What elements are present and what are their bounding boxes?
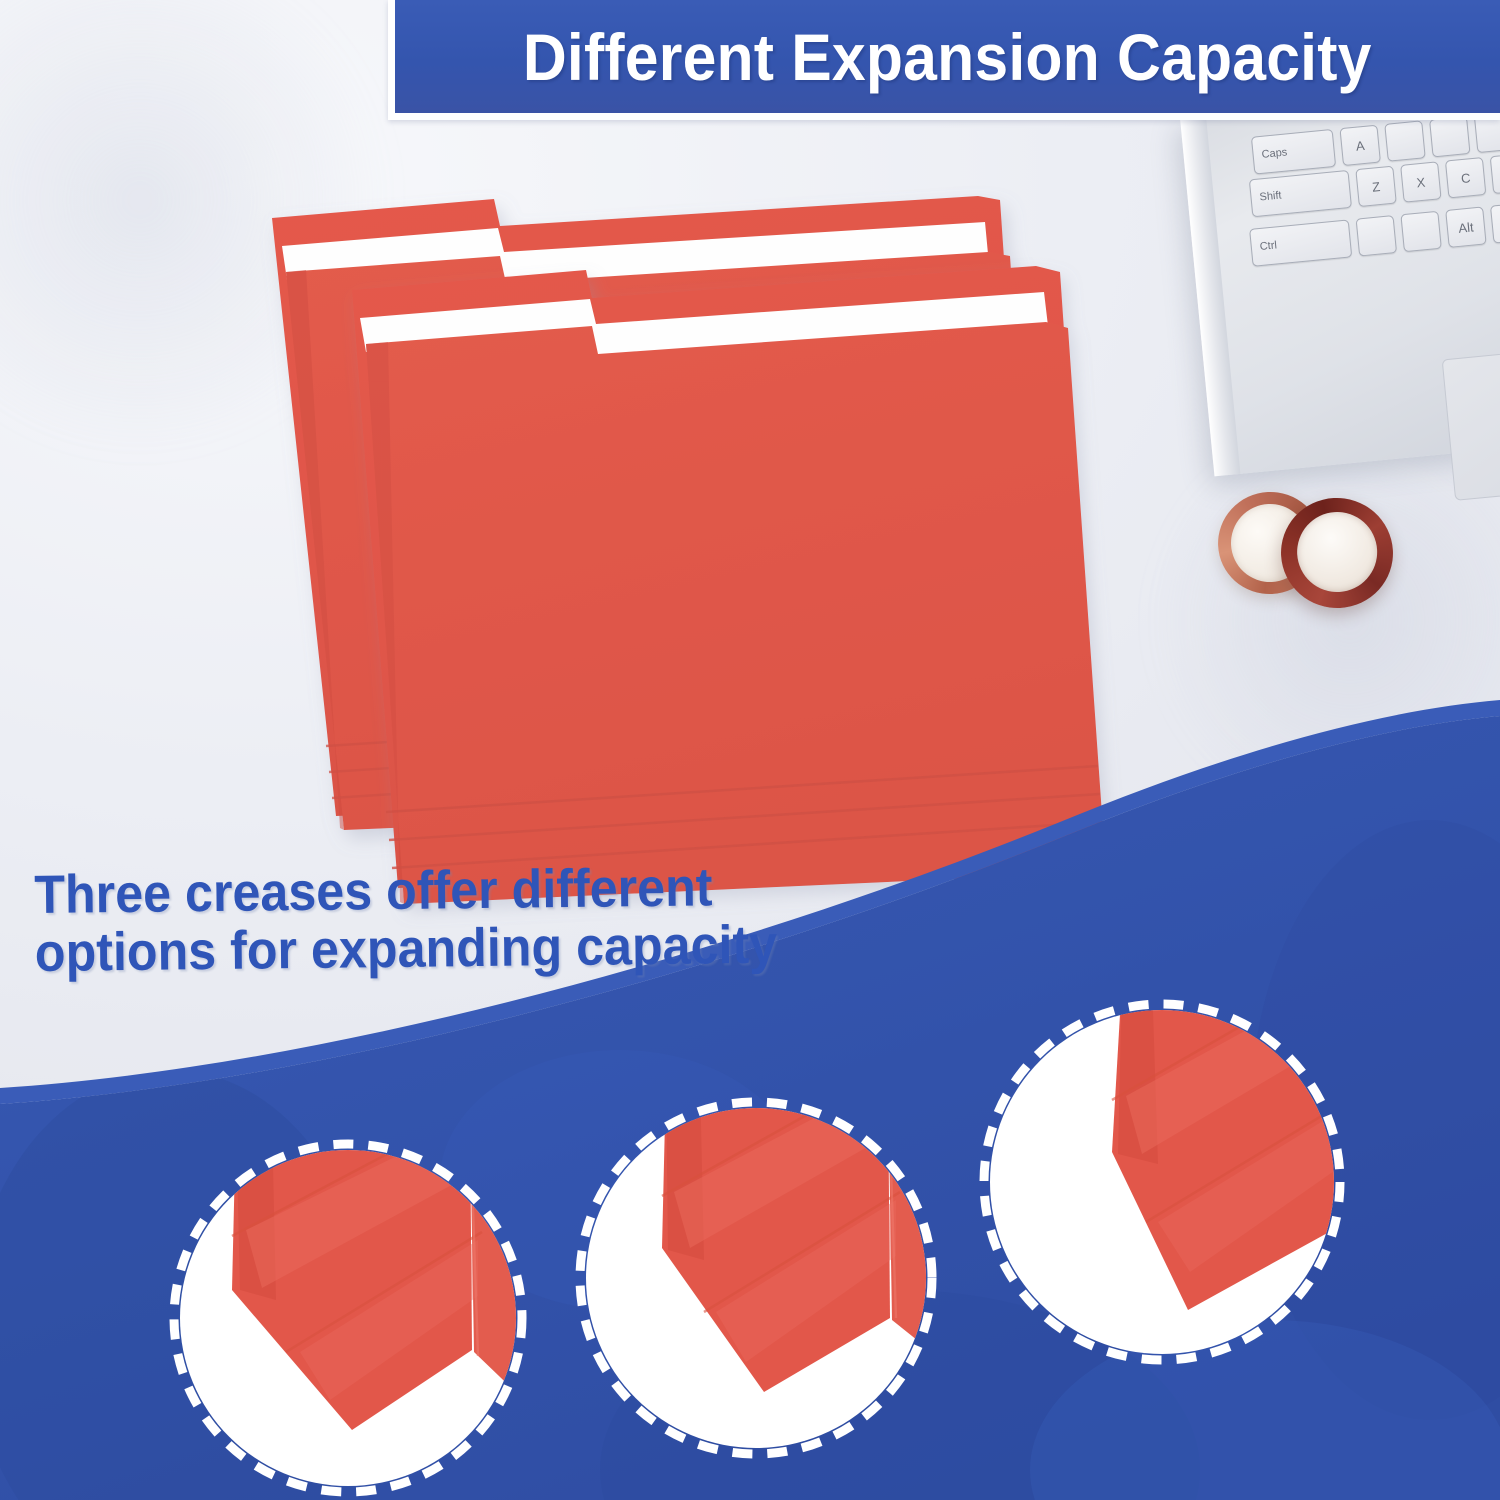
banner-title: Different Expansion Capacity [523, 19, 1372, 95]
blue-section-band [0, 0, 1500, 1500]
caption-line-2: options for expanding capacity [35, 915, 873, 983]
caption-line-1: Three creases offer different [34, 857, 872, 925]
caption-text: Three creases offer different options fo… [34, 857, 872, 983]
header-banner: Different Expansion Capacity [388, 0, 1500, 120]
product-infographic: Caps A Shift Z X C Ctrl Alt [0, 0, 1500, 1500]
